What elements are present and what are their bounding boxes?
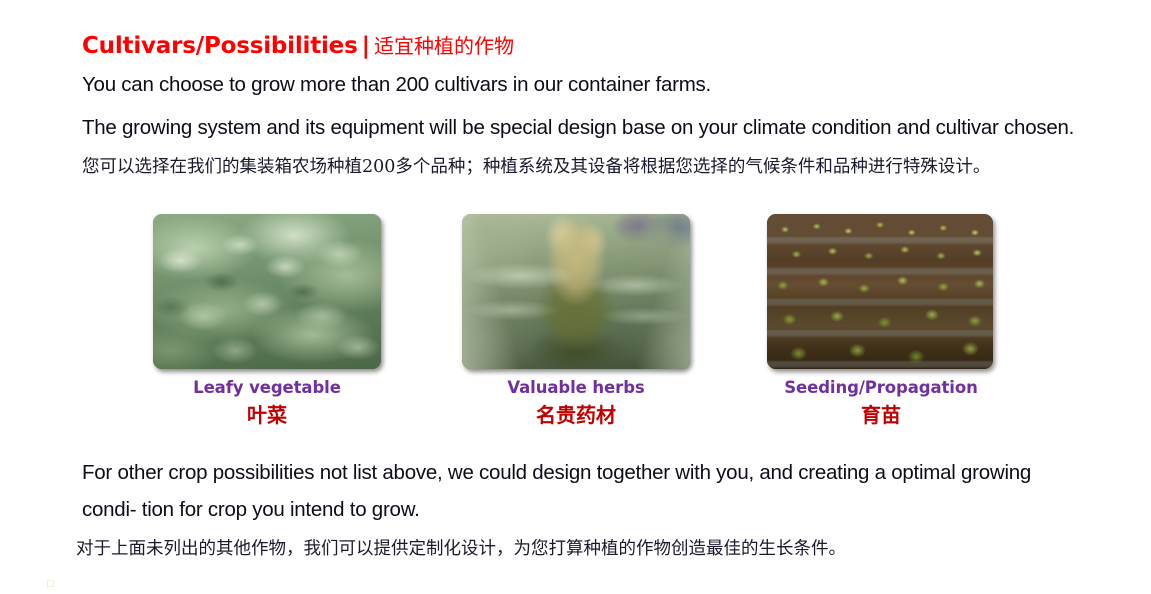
photo-shading-layer: [767, 214, 993, 369]
seeding-propagation-photo: [767, 214, 993, 369]
cultivar-card-valuable-herbs: Valuable herbs 名贵药材: [462, 214, 690, 428]
valuable-herbs-photo: [462, 214, 690, 369]
intro-text-line-1: You can choose to grow more than 200 cul…: [82, 73, 711, 97]
card-caption-chinese: 叶菜: [153, 399, 381, 428]
card-caption-english: Valuable herbs: [462, 378, 690, 397]
outro-text-line-2: condi- tion for crop you intend to grow.: [82, 498, 420, 522]
page-title-english: Cultivars/Possibilities: [82, 33, 358, 59]
outro-text-line-1: For other crop possibilities not list ab…: [82, 461, 1031, 485]
cultivar-card-row: Leafy vegetable 叶菜 Valuable herbs 名贵药材 S…: [0, 214, 1151, 434]
card-caption-english: Seeding/Propagation: [767, 378, 995, 397]
page-title: Cultivars/Possibilities|适宜种植的作物: [82, 30, 514, 59]
card-caption-chinese: 名贵药材: [462, 399, 690, 428]
intro-text-line-2: The growing system and its equipment wil…: [82, 116, 1074, 140]
intro-text-chinese: 您可以选择在我们的集装箱农场种植200多个品种；种植系统及其设备将根据您选择的气…: [82, 153, 990, 178]
photo-shading-layer: [153, 214, 381, 369]
page-title-chinese: 适宜种植的作物: [374, 34, 514, 58]
outro-text-chinese: 对于上面未列出的其他作物，我们可以提供定制化设计，为您打算种植的作物创造最佳的生…: [76, 535, 846, 560]
leafy-vegetable-photo: [153, 214, 381, 369]
cultivar-card-seeding-propagation: Seeding/Propagation 育苗: [767, 214, 995, 428]
page-title-separator: |: [358, 33, 374, 59]
card-caption-english: Leafy vegetable: [153, 378, 381, 397]
cultivar-card-leafy-vegetable: Leafy vegetable 叶菜: [153, 214, 381, 428]
page-artifact-glyph: □: [47, 578, 54, 590]
photo-shading-layer: [462, 214, 690, 369]
card-caption-chinese: 育苗: [767, 399, 995, 428]
